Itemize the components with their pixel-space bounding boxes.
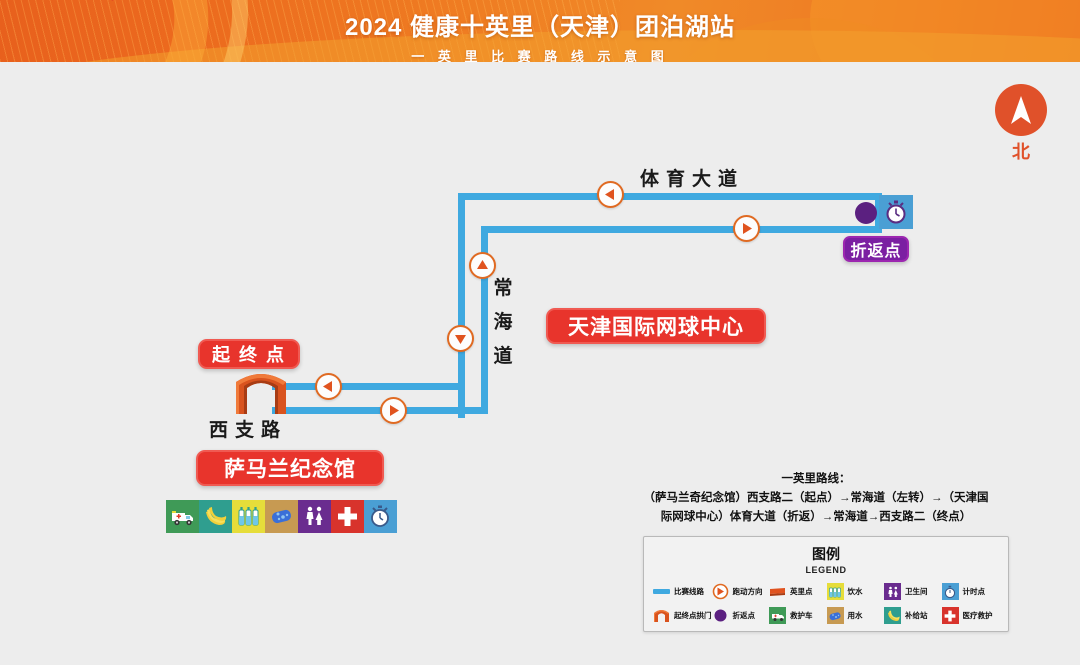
sponge-icon [827, 607, 844, 624]
turnaround-dot-icon [855, 202, 877, 224]
route-description-line-1: （萨马兰奇纪念馆）西支路二（起点）→常海道（左转）→（天津国 [616, 489, 1016, 508]
legend-item-restroom: 卫生间 [884, 583, 942, 600]
street-label-xizhi-road: 西支路 [209, 415, 287, 442]
arch-gate-icon [228, 364, 294, 421]
timing-point-icon [942, 583, 959, 600]
facility-icon-strip [166, 500, 397, 533]
legend-item-arch-gate: 起终点拱门 [653, 607, 712, 624]
route-description: 一英里路线： （萨马兰奇纪念馆）西支路二（起点）→常海道（左转）→（天津国 际网… [616, 470, 1016, 527]
compass-north: 北 [995, 84, 1047, 164]
route-line-icon [653, 583, 670, 600]
route-segment-sports-ave-outbound [458, 193, 882, 200]
direction-arrow-sports-ave-west [597, 181, 624, 208]
header-banner: 2024 健康十英里（天津）团泊湖站 一 英 里 比 赛 路 线 示 意 图 [0, 0, 1080, 62]
legend-label: 医疗救护 [963, 610, 993, 621]
page-title: 2024 健康十英里（天津）团泊湖站 [0, 7, 1080, 42]
direction-arrow-xizhi-west [315, 373, 342, 400]
legend-item-mile-marker: 英里点 [769, 583, 827, 600]
route-description-title: 一英里路线： [616, 470, 1016, 489]
legend-label: 卫生间 [905, 586, 928, 597]
legend-item-route-line: 比赛线路 [653, 583, 712, 600]
banana-icon [884, 607, 901, 624]
legend-item-water-use: 用水 [827, 607, 885, 624]
direction-arrow-sports-ave-east [733, 215, 760, 242]
compass-label: 北 [995, 138, 1047, 164]
street-label-changhai-road: 常海道 [492, 272, 514, 374]
legend-item-ambulance: 救护车 [769, 607, 827, 624]
map-canvas: 起 终 点 萨马兰纪念馆 天津国际网球中心 折返点 体育大道 西支路 常海道 [0, 62, 1080, 665]
legend-item-drinking-water: 饮水 [827, 583, 885, 600]
legend-item-turnaround: 折返点 [712, 607, 770, 624]
badge-samaranch-memorial: 萨马兰纪念馆 [196, 450, 384, 486]
turnaround-stopwatch-icon [879, 195, 913, 229]
drinking-water-icon [827, 583, 844, 600]
legend-label: 用水 [848, 610, 863, 621]
route-segment-xizhi-outbound [272, 383, 465, 390]
restroom-icon [884, 583, 901, 600]
badge-start-finish: 起 终 点 [198, 339, 300, 369]
race-route-map-page: 2024 健康十英里（天津）团泊湖站 一 英 里 比 赛 路 线 示 意 图 [0, 0, 1080, 665]
banana-icon [199, 500, 232, 533]
badge-tennis-center: 天津国际网球中心 [546, 308, 766, 344]
stopwatch-icon [364, 500, 397, 533]
legend-label: 补给站 [905, 610, 928, 621]
direction-arrow-xizhi-east [380, 397, 407, 424]
legend-label: 折返点 [733, 610, 756, 621]
legend-label: 比赛线路 [674, 586, 704, 597]
arch-gate-icon [653, 607, 670, 624]
ambulance-icon [769, 607, 786, 624]
legend-label: 英里点 [790, 586, 813, 597]
header-text-group: 2024 健康十英里（天津）团泊湖站 一 英 里 比 赛 路 线 示 意 图 [0, 0, 1080, 62]
direction-arrow-icon [712, 583, 729, 600]
legend-subtitle: LEGEND [644, 565, 1008, 575]
legend-box: 图例 LEGEND 比赛线路 跑动方向 [643, 536, 1009, 632]
legend-label: 起终点拱门 [674, 610, 712, 621]
legend-label: 救护车 [790, 610, 813, 621]
ambulance-icon [166, 500, 199, 533]
legend-item-supply-station: 补给站 [884, 607, 942, 624]
badge-turnaround: 折返点 [843, 236, 909, 262]
legend-item-direction: 跑动方向 [712, 583, 770, 600]
legend-items-grid: 比赛线路 跑动方向 [653, 583, 999, 624]
route-description-line-2: 际网球中心）体育大道（折返）→常海道→西支路二（终点） [616, 508, 1016, 527]
legend-item-timing-point: 计时点 [942, 583, 1000, 600]
route-segment-sports-ave-return [481, 226, 882, 233]
water-bottles-icon [232, 500, 265, 533]
restroom-icon [298, 500, 331, 533]
medical-cross-icon [331, 500, 364, 533]
legend-label: 跑动方向 [733, 586, 763, 597]
legend-label: 计时点 [963, 586, 986, 597]
page-subtitle: 一 英 里 比 赛 路 线 示 意 图 [0, 46, 1080, 62]
legend-label: 饮水 [848, 586, 863, 597]
north-arrow-icon [995, 84, 1047, 136]
direction-arrow-changhai-south [447, 325, 474, 352]
street-label-sports-ave: 体育大道 [640, 164, 744, 191]
mile-marker-icon [769, 583, 786, 600]
legend-item-medical-aid: 医疗救护 [942, 607, 1000, 624]
medical-cross-icon [942, 607, 959, 624]
turnaround-dot-icon [712, 607, 729, 624]
sponge-icon [265, 500, 298, 533]
legend-title: 图例 [644, 544, 1008, 564]
